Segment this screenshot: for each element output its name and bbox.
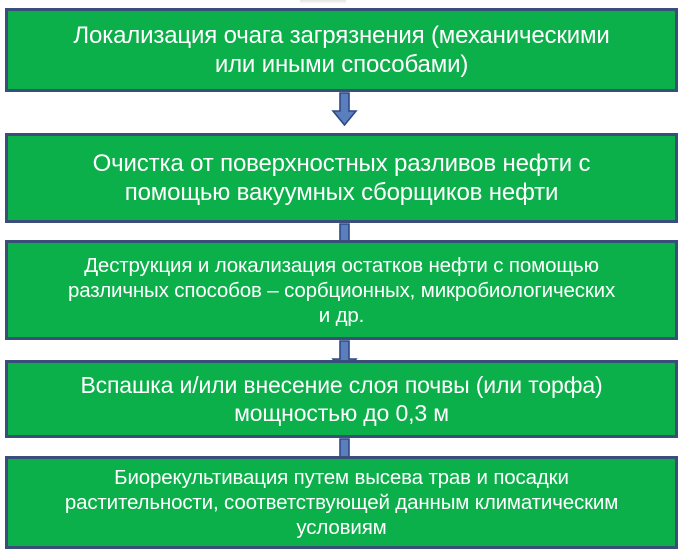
flow-node-label: Биорекультивация путем высева трав и пос… — [18, 465, 665, 540]
flow-node-label: Вспашка и/или внесение слоя почвы (или т… — [18, 371, 665, 427]
arrow-down-icon — [331, 92, 358, 126]
top-edge-artifact — [300, 0, 346, 4]
flow-node-label: Локализация очага загрязнения (механичес… — [18, 21, 665, 80]
flow-node-localization: Локализация очага загрязнения (механичес… — [5, 8, 678, 92]
flow-node-surface-cleanup: Очистка от поверхностных разливов нефти … — [5, 133, 678, 223]
flow-node-label: Деструкция и локализация остатков нефти … — [18, 253, 665, 328]
flowchart-diagram: Локализация очага загрязнения (механичес… — [0, 0, 689, 549]
flow-node-plowing: Вспашка и/или внесение слоя почвы (или т… — [5, 360, 678, 438]
flow-node-destruction: Деструкция и локализация остатков нефти … — [5, 240, 678, 340]
flow-node-label: Очистка от поверхностных разливов нефти … — [18, 149, 665, 208]
flow-node-biorecultivation: Биорекультивация путем высева трав и пос… — [5, 456, 678, 549]
